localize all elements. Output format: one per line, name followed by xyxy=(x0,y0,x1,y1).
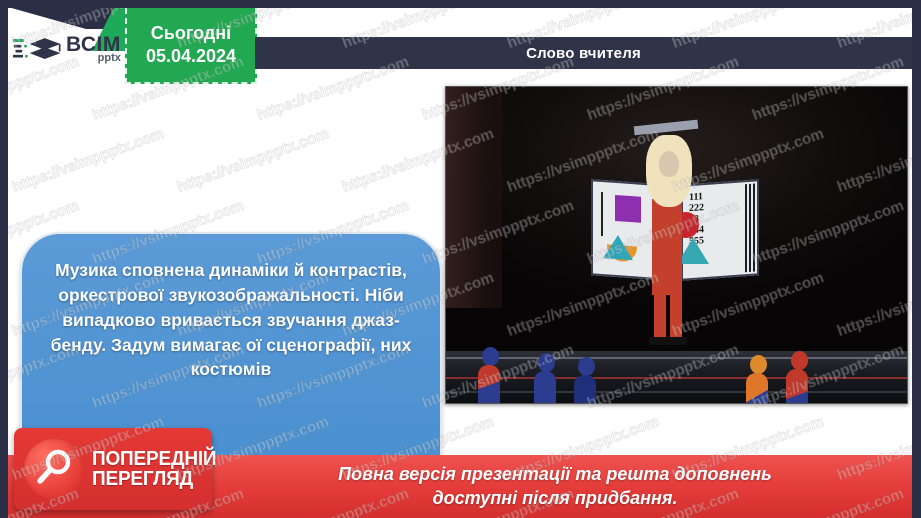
watermark-text: https://vsimppptx.com xyxy=(175,125,331,196)
stage-photo: 1112223344455566 xyxy=(445,86,908,404)
banner-line-2: доступні після придбання. xyxy=(338,487,772,510)
presentation-slide: ВСІМ pptx Сьогодні 05.04.2024 Слово вчит… xyxy=(0,0,921,518)
stage-curtain xyxy=(446,87,502,308)
date-badge-label: Сьогодні xyxy=(151,22,231,45)
preview-badge-line-2: ПЕРЕГЛЯД xyxy=(92,469,216,489)
slide-header-bar: Слово вчителя xyxy=(255,37,912,69)
date-badge-value: 05.04.2024 xyxy=(146,44,236,68)
magnifier-icon xyxy=(24,439,84,499)
today-date-badge: Сьогодні 05.04.2024 xyxy=(125,8,257,84)
page-title: Слово вчителя xyxy=(526,45,641,62)
graduation-cap-icon xyxy=(13,32,63,66)
stage-floor xyxy=(446,351,907,403)
body-text: Музика сповнена динаміки й контрастів, о… xyxy=(38,258,424,382)
watermark-text: https://vsimppptx.com xyxy=(10,125,166,196)
preview-badge: ПОПЕРЕДНІЙ ПЕРЕГЛЯД xyxy=(14,428,212,510)
preview-badge-line-1: ПОПЕРЕДНІЙ xyxy=(92,449,216,469)
slide-canvas: ВСІМ pptx Сьогодні 05.04.2024 Слово вчит… xyxy=(8,8,912,518)
banner-line-1: Повна версія презентації та решта доповн… xyxy=(338,463,772,486)
brand-logo[interactable]: ВСІМ pptx xyxy=(13,32,121,66)
